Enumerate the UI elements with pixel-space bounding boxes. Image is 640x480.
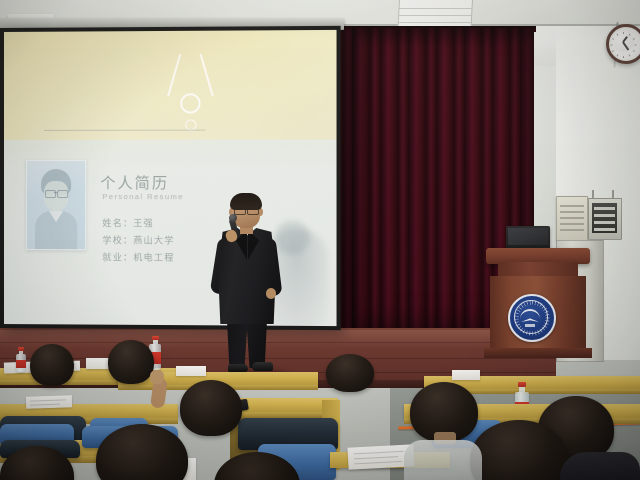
equipment-box-right (588, 198, 622, 240)
wall-clock (606, 24, 640, 64)
lectern-base (484, 348, 592, 358)
projection-screen: 个人简历 Personal Resume 姓名：王强 学校：燕山大学 就业：机电… (0, 26, 341, 330)
paper-sheet (452, 370, 480, 380)
university-emblem-icon (508, 294, 556, 342)
presenter-shoe-left (228, 364, 248, 372)
stage-reflection (0, 330, 556, 348)
presenter-hand-right (266, 288, 276, 299)
slide-subtitle: Personal Resume (102, 192, 184, 201)
presenter-suit-jacket (218, 228, 276, 324)
equipment-box-left (556, 196, 588, 242)
clock-minute-hand (622, 41, 629, 50)
presenter-shoe-right (252, 362, 273, 371)
slide-title: 个人简历 (100, 172, 169, 193)
monitor-screen (508, 228, 548, 245)
presenter-glasses-bridge (244, 209, 247, 210)
projection-screen-surface: 个人简历 Personal Resume 姓名：王强 学校：燕山大学 就业：机电… (4, 30, 337, 326)
slide-portrait-photo (26, 160, 86, 250)
pendant-ring-icon (180, 93, 200, 113)
presenter-glasses-right (247, 207, 259, 215)
slide-line-employment: 就业：机电工程 (102, 250, 174, 263)
audience-hand (150, 370, 164, 384)
slide-line-school: 学校：燕山大学 (102, 233, 174, 246)
paper-sheet (176, 366, 206, 376)
clock-face (612, 30, 634, 52)
audience-head (108, 340, 154, 384)
slide-line-name: 姓名：王强 (102, 216, 154, 229)
audience-head (30, 344, 74, 386)
lectern-monitor (506, 226, 550, 250)
audience-shoulder (560, 452, 640, 480)
water-bottle (16, 354, 26, 372)
microphone-head (229, 214, 237, 222)
audience-head (326, 354, 374, 392)
presenter-head-shadow (275, 220, 310, 255)
lecture-hall-photo: 个人简历 Personal Resume 姓名：王强 学校：燕山大学 就业：机电… (0, 0, 640, 480)
audience-shoulder (404, 440, 482, 480)
audience-head (180, 380, 242, 436)
paper-sheet (26, 395, 72, 409)
